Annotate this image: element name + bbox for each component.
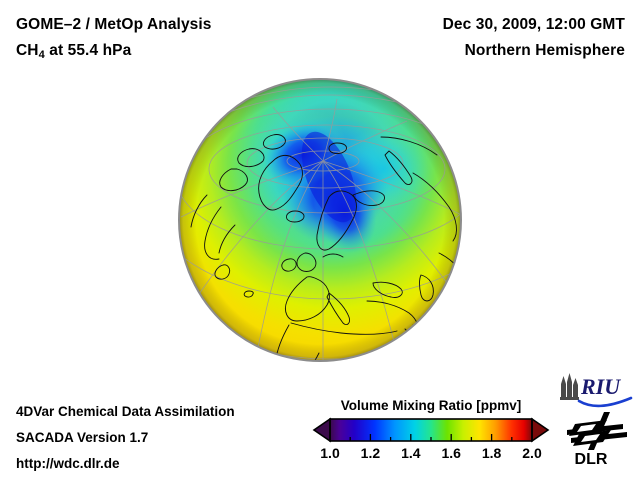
colorbar-tick-label: 2.0 — [522, 445, 541, 461]
globe-svg — [177, 77, 463, 363]
globe-map — [177, 77, 463, 363]
species-level-label: CH4 at 55.4 hPa — [16, 42, 131, 61]
riu-logo: RIU — [557, 370, 633, 408]
riu-wordmark: RIU — [580, 374, 621, 399]
credit-line-method: 4DVar Chemical Data Assimilation — [16, 404, 235, 419]
colorbar-tick-label: 1.8 — [482, 445, 501, 461]
colorbar-tick-label: 1.2 — [361, 445, 380, 461]
dlr-wordmark: DLR — [575, 451, 608, 468]
colorbar-tick-label: 1.6 — [441, 445, 460, 461]
colorbar-tick-label: 1.0 — [320, 445, 339, 461]
riu-swoosh — [579, 398, 631, 406]
page-title: GOME–2 / MetOp Analysis — [16, 16, 212, 34]
timestamp-label: Dec 30, 2009, 12:00 GMT — [443, 16, 625, 34]
dlr-logo: DLR — [563, 410, 635, 468]
region-label: Northern Hemisphere — [465, 42, 625, 60]
colorbar-tick-label: 1.4 — [401, 445, 420, 461]
credit-line-url: http://wdc.dlr.de — [16, 456, 120, 471]
species-level-suffix: at 55.4 hPa — [45, 42, 132, 59]
dlr-mark-icon — [567, 412, 627, 450]
colorbar-title: Volume Mixing Ratio [ppmv] — [300, 398, 562, 413]
colorbar-swatch — [312, 417, 550, 445]
colorbar-tick-labels: 1.01.21.41.61.82.0 — [312, 445, 550, 467]
colorbar-cap-right — [532, 419, 548, 441]
species-formula-prefix: CH — [16, 42, 39, 59]
colorbar-legend: Volume Mixing Ratio [ppmv] 1.01.21.41.61… — [300, 398, 562, 474]
credit-line-version: SACADA Version 1.7 — [16, 430, 148, 445]
riu-building-icon — [560, 373, 579, 400]
colorbar-cap-left — [314, 419, 330, 441]
analysis-map-page: GOME–2 / MetOp Analysis CH4 at 55.4 hPa … — [0, 0, 640, 480]
